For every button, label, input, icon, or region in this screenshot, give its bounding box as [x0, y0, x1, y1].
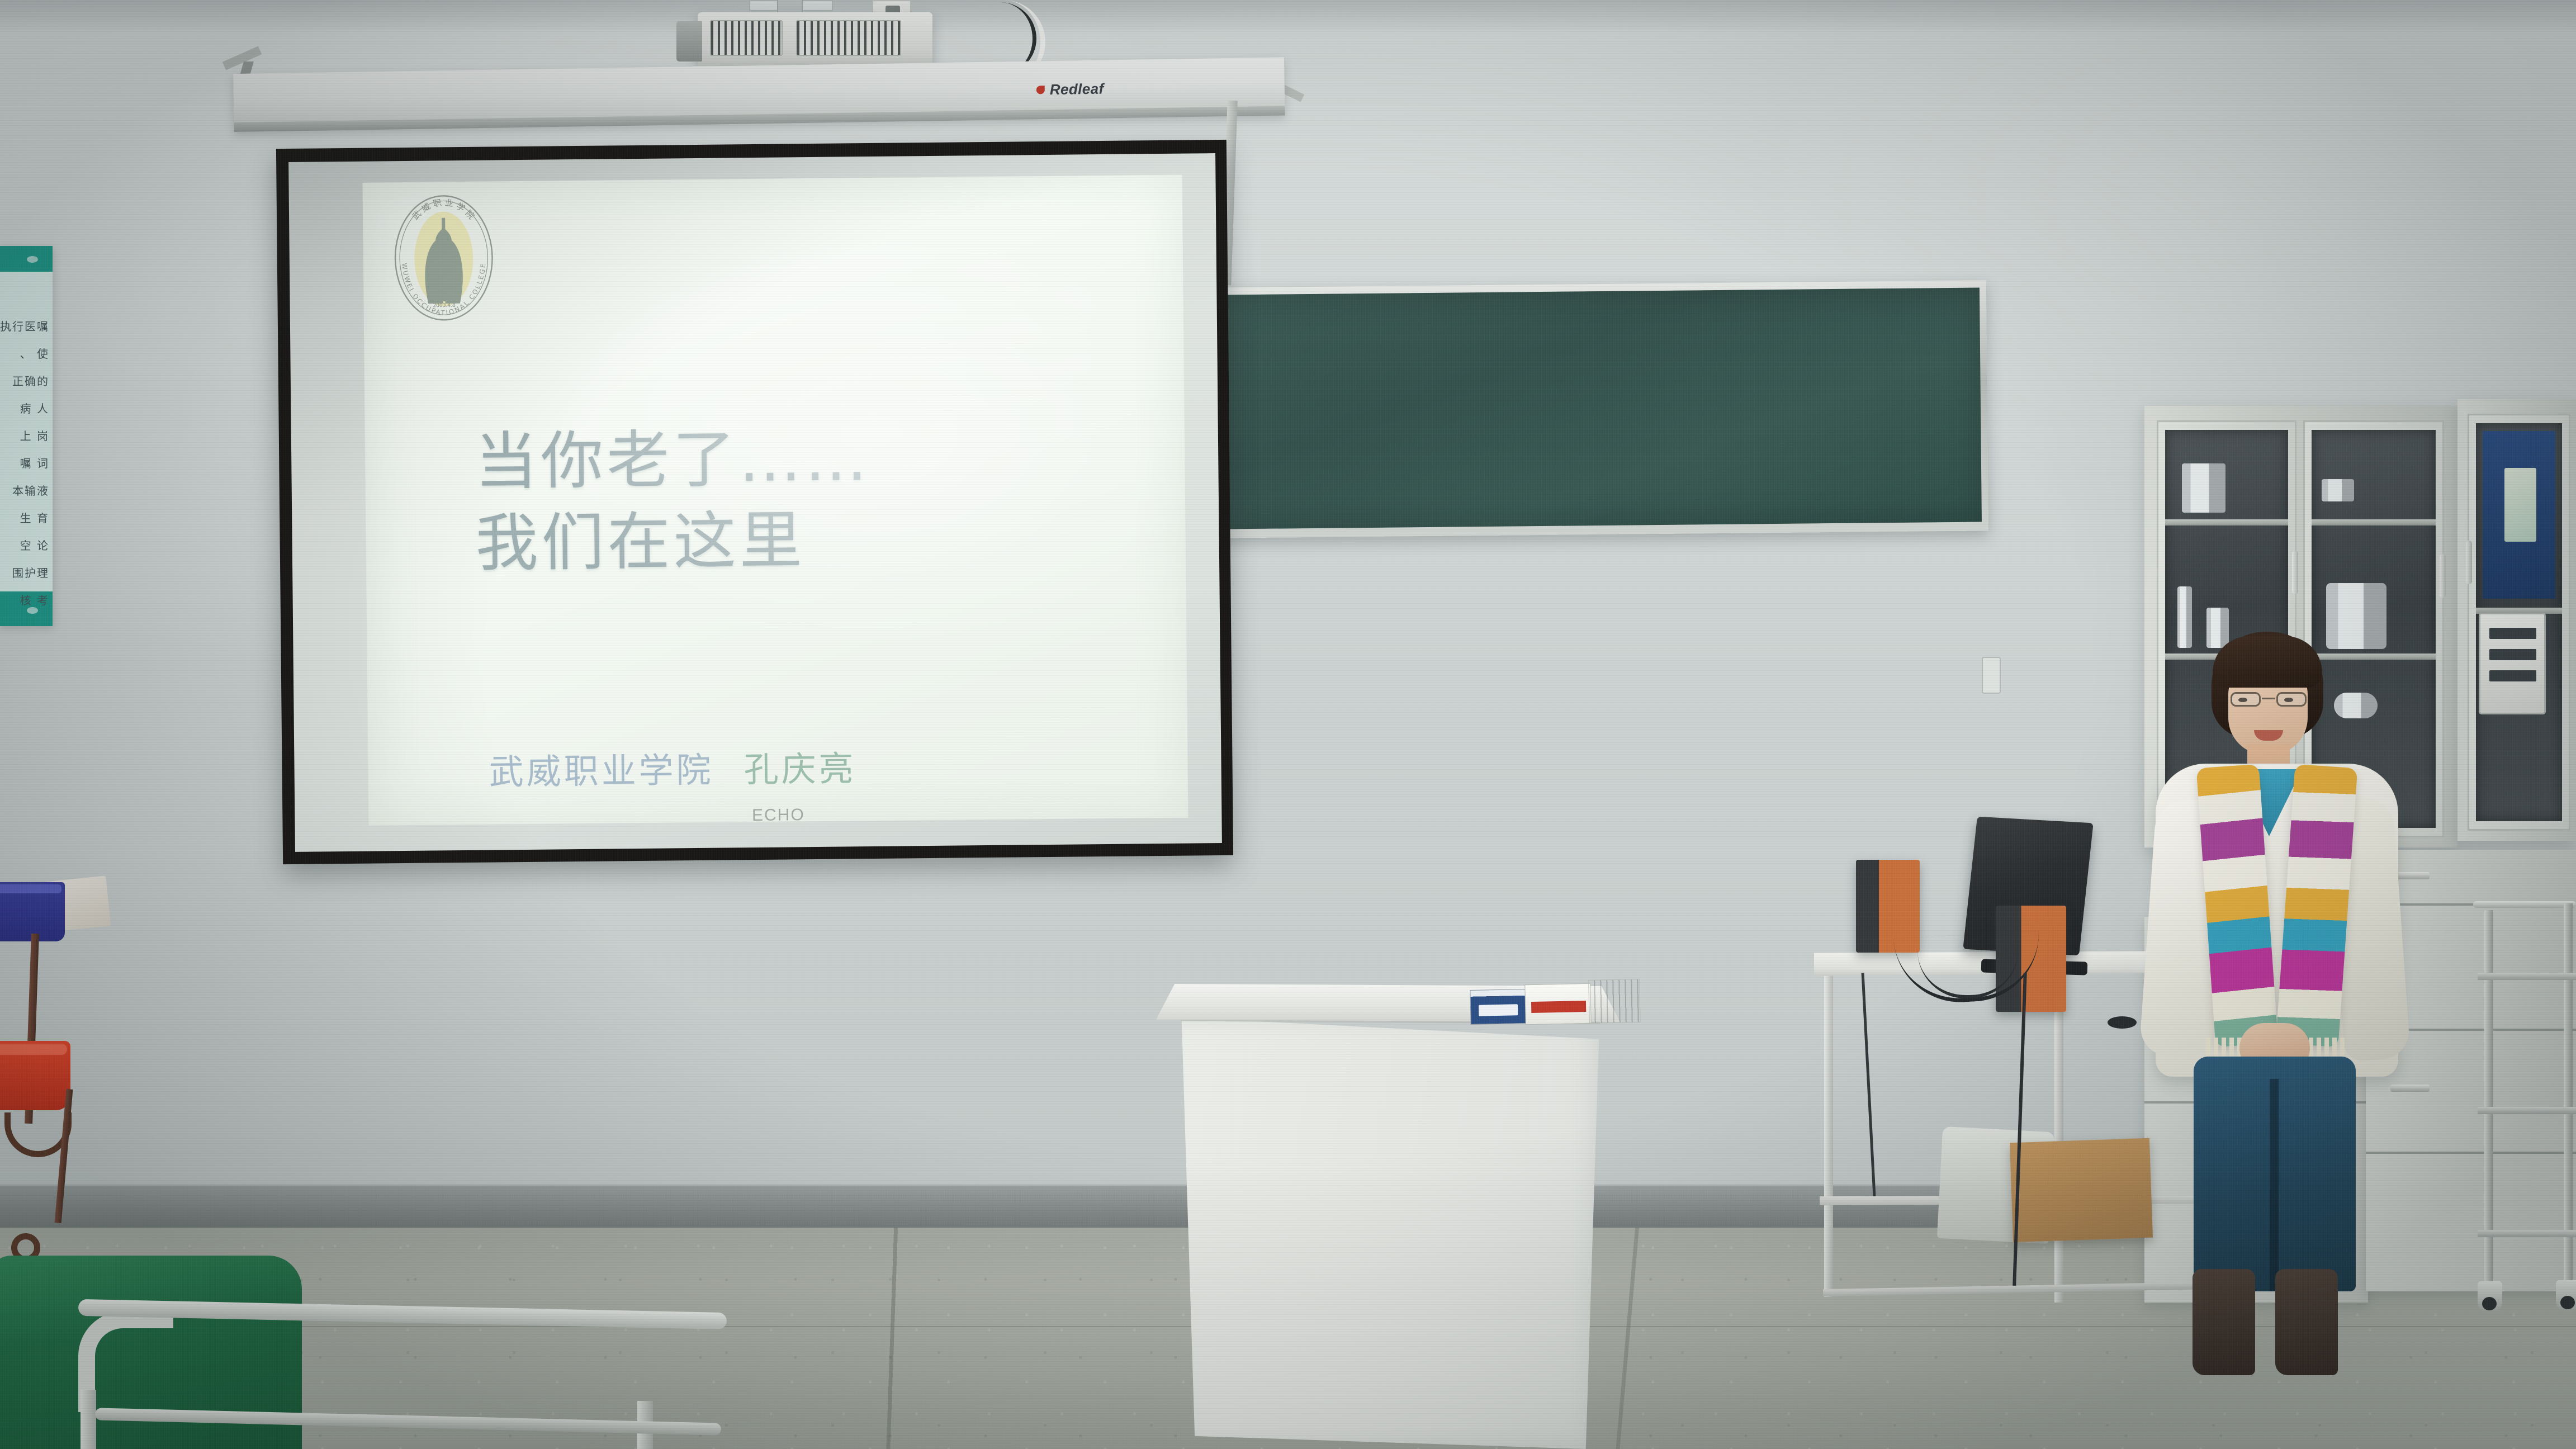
cabinet-shelf: [2165, 519, 2288, 525]
chalkboard-frame: [1215, 280, 1988, 538]
device-display-bar: [2489, 649, 2536, 660]
trolley-shelf-top: [2478, 973, 2576, 980]
caster-wheel: [2482, 1297, 2497, 1310]
ceiling-projector[interactable]: [698, 12, 932, 69]
trolley-caster-right: [2556, 1280, 2576, 1310]
cabinet-shelf: [2312, 519, 2436, 525]
slide-title-block: 当你老了…… 我们在这里: [475, 416, 1119, 585]
projection-screen: 2003.4.8 武 威 职 业 学 院 WUWEI OCCUPATIONAL …: [276, 140, 1233, 864]
white-printed-box[interactable]: [1588, 979, 1641, 1024]
poster-line: 执行医嘱: [0, 313, 49, 340]
poster-line: 空 论: [0, 532, 49, 560]
slide-presenter-name: 孔庆亮: [744, 748, 856, 790]
cabinet-box: [2322, 479, 2354, 501]
poster-line: 正确的: [0, 368, 49, 395]
cable-puck: [2108, 1016, 2137, 1029]
blue-wash-basin[interactable]: [0, 882, 65, 941]
red-wash-basin[interactable]: [0, 1041, 70, 1110]
poster-line: 围护理: [0, 560, 49, 587]
presenter-glasses: [2229, 692, 2308, 707]
ceiling-shadow: [0, 0, 2576, 34]
poster-line: 上 岗: [0, 423, 49, 450]
slide-title-line-1: 当你老了……: [475, 416, 1118, 504]
slide-subtitle: 武威职业学院孔庆亮: [489, 740, 856, 794]
projection-screen-canvas: 2003.4.8 武 威 职 业 学 院 WUWEI OCCUPATIONAL …: [288, 153, 1222, 852]
cabinet-handle-3[interactable]: [2466, 541, 2472, 584]
device-display-bar: [2489, 670, 2536, 681]
cabinet-blue-chart: [2483, 431, 2555, 599]
trolley-shelf-low: [2478, 1230, 2576, 1237]
poster-line: 核 考: [0, 587, 49, 614]
poster-line: 嘱 词: [0, 450, 49, 477]
left-wall-poster: 执行医嘱 、 使 正确的 病 人 上 岗 嘱 词 本输液 生 育 空 论 围护理…: [0, 246, 53, 626]
desk-leg: [2054, 969, 2063, 1303]
glasses-lens-right: [2276, 692, 2307, 707]
bed-leg: [80, 1390, 96, 1449]
presenter-boot-left: [2193, 1269, 2255, 1375]
bed-mid-rail: [95, 1408, 721, 1435]
presenter-fringe: [2213, 636, 2322, 688]
projector-vent-right: [796, 20, 901, 56]
cabinet-handle-2[interactable]: [2440, 554, 2446, 598]
slide-footer-center: ECHO: [368, 802, 1188, 826]
trolley-push-rail[interactable]: [2473, 901, 2576, 908]
green-chalkboard: [1215, 280, 1988, 538]
cardboard-box-under-desk: [2010, 1138, 2153, 1243]
presenter-boot-right: [2275, 1269, 2338, 1375]
trouser-seam: [2270, 1079, 2279, 1291]
screen-brand-label: Redleaf: [1050, 80, 1104, 99]
poster-line: 病 人: [0, 395, 49, 423]
device-display-bar: [2489, 628, 2536, 639]
left-wall-poster-text: 执行医嘱 、 使 正确的 病 人 上 岗 嘱 词 本输液 生 育 空 论 围护理…: [0, 313, 49, 614]
college-emblem-icon: 2003.4.8 武 威 职 业 学 院 WUWEI OCCUPATIONAL …: [386, 192, 501, 323]
lectern-body: [1168, 1017, 1608, 1449]
classroom-scene: 执行医嘱 、 使 正确的 病 人 上 岗 嘱 词 本输液 生 育 空 论 围护理…: [0, 0, 2576, 1449]
projector-vent-left: [710, 20, 783, 56]
presentation-slide: 2003.4.8 武 威 职 业 学 院 WUWEI OCCUPATIONAL …: [362, 175, 1188, 826]
poster-line: 本输液: [0, 477, 49, 505]
trolley-caster-left: [2478, 1281, 2502, 1311]
slide-institution: 武威职业学院: [489, 750, 714, 793]
cabinet-tray: [2182, 463, 2225, 513]
projector-side-cap: [676, 21, 702, 61]
glasses-lens-left: [2231, 692, 2261, 707]
poster-line: 、 使: [0, 340, 49, 368]
white-supply-box-red-label[interactable]: [1524, 983, 1591, 1025]
wall-mounted-device[interactable]: [2479, 613, 2546, 714]
desk-leg: [1824, 973, 1833, 1297]
lectern: [1156, 984, 1620, 1449]
caster-wheel: [2560, 1296, 2575, 1309]
poster-grommet-bottom: [27, 607, 38, 614]
poster-grommet-top: [27, 256, 38, 263]
wall-socket-right[interactable]: [1982, 657, 2001, 694]
trolley-shelf-mid: [2478, 1107, 2576, 1114]
hospital-bed-frame: [78, 1306, 727, 1449]
cabinet-handle-1[interactable]: [2292, 551, 2298, 594]
presenter: [2146, 632, 2408, 1375]
chalkboard-surface: [1221, 288, 1982, 529]
blue-supply-box[interactable]: [1470, 989, 1526, 1025]
slide-title-line-2: 我们在这里: [475, 497, 1119, 585]
poster-line: 生 育: [0, 505, 49, 532]
